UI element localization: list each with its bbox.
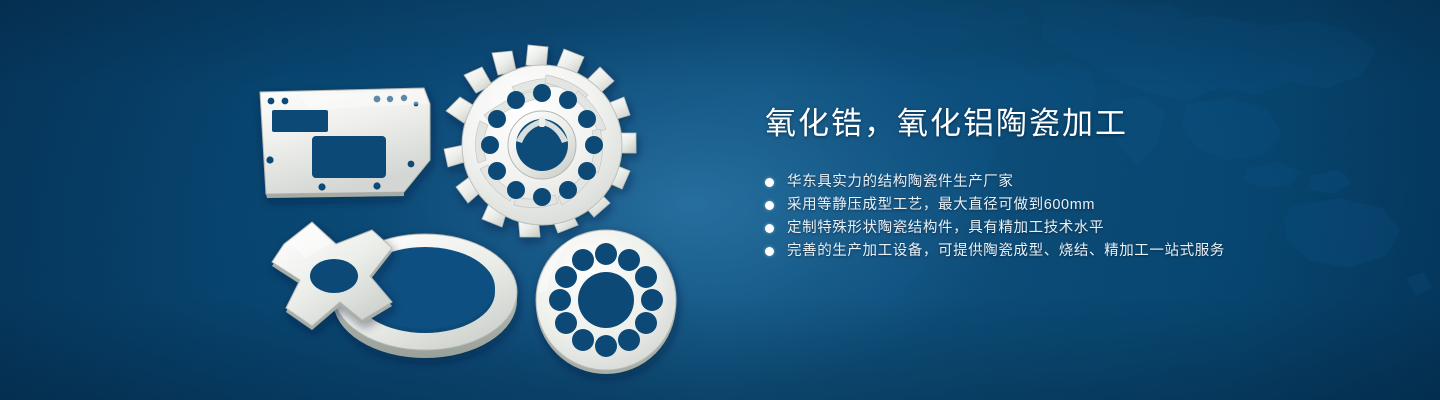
banner-copy: 氧化锆，氧化铝陶瓷加工 华东具实力的结构陶瓷件生产厂家 采用等静压成型工艺，最大… xyxy=(765,104,1305,263)
list-item: 华东具实力的结构陶瓷件生产厂家 xyxy=(765,171,1305,194)
ceramic-perforated-disc xyxy=(536,230,676,374)
bullet-dot-icon xyxy=(765,201,774,210)
ceramic-plate-with-cutouts xyxy=(260,88,430,198)
list-item: 完善的生产加工设备，可提供陶瓷成型、烧结、精加工一站式服务 xyxy=(765,240,1305,263)
feature-text: 华东具实力的结构陶瓷件生产厂家 xyxy=(787,171,1014,194)
list-item: 采用等静压成型工艺，最大直径可做到600mm xyxy=(765,194,1305,217)
bullet-dot-icon xyxy=(765,178,774,187)
feature-text: 定制特殊形状陶瓷结构件，具有精加工技术水平 xyxy=(787,217,1104,240)
product-banner: 氧化锆，氧化铝陶瓷加工 华东具实力的结构陶瓷件生产厂家 采用等静压成型工艺，最大… xyxy=(0,0,1440,400)
feature-text: 采用等静压成型工艺，最大直径可做到600mm xyxy=(787,194,1095,217)
feature-list: 华东具实力的结构陶瓷件生产厂家 采用等静压成型工艺，最大直径可做到600mm 定… xyxy=(765,171,1305,263)
page-title: 氧化锆，氧化铝陶瓷加工 xyxy=(765,104,1305,144)
feature-text: 完善的生产加工设备，可提供陶瓷成型、烧结、精加工一站式服务 xyxy=(787,240,1225,263)
ceramic-products-collage xyxy=(0,0,760,400)
bullet-dot-icon xyxy=(765,224,774,233)
ceramic-impeller-rotor xyxy=(444,45,636,237)
list-item: 定制特殊形状陶瓷结构件，具有精加工技术水平 xyxy=(765,217,1305,240)
bullet-dot-icon xyxy=(765,247,774,256)
